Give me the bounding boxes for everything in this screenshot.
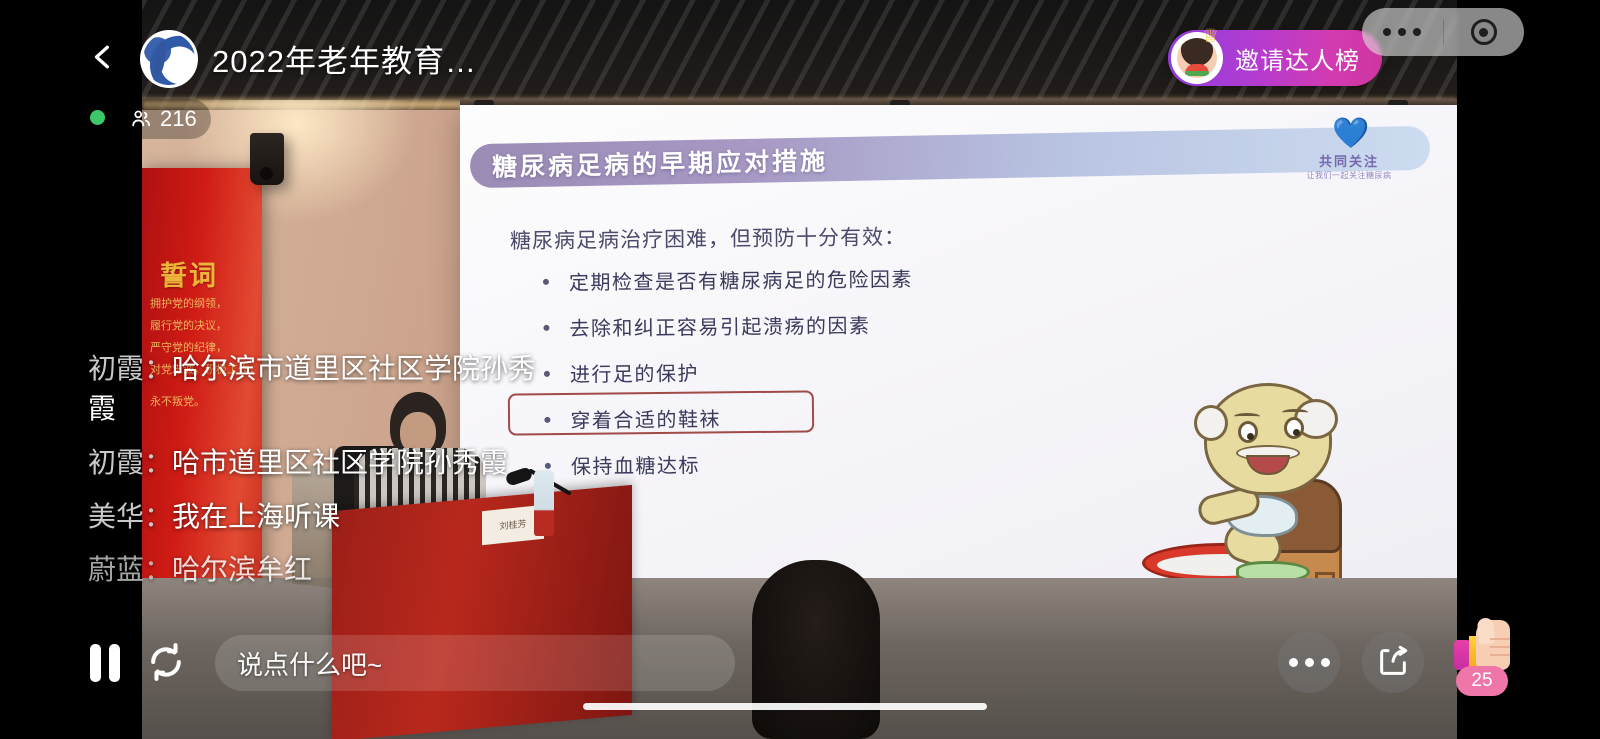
eye-right	[1284, 417, 1304, 439]
chat-message: 蔚蓝：哈尔滨牟红	[88, 550, 558, 590]
brow-right	[1282, 409, 1308, 416]
live-green-dot	[90, 110, 105, 125]
people-icon	[130, 108, 152, 130]
slide-title: 糖尿病足病的早期应对措施	[492, 141, 829, 183]
eye-left	[1238, 421, 1258, 443]
slide-logo-line2: 让我们一起关注糖尿病	[1290, 170, 1408, 181]
chat-sender-name: 美华：	[88, 501, 172, 532]
chat-sender-name: 初霞：	[88, 447, 172, 478]
room-avatar[interactable]	[140, 30, 198, 88]
invite-leaderboard-button[interactable]: ♕ 邀请达人榜	[1168, 30, 1382, 86]
chat-message: 初霞：哈尔滨市道里区社区学院孙秀霞	[88, 349, 558, 429]
wall-speaker	[250, 133, 284, 185]
chat-message: 美华：我在上海听课	[88, 497, 558, 537]
crowned-kid-avatar: ♕	[1171, 32, 1223, 84]
pause-button[interactable]	[82, 640, 128, 686]
chat-sender-name: 初霞：	[88, 353, 172, 384]
share-arrow-icon	[1376, 645, 1410, 679]
slide-bullet: 保持血糖达标	[537, 447, 915, 480]
slide-logo-line1: 共同关注	[1290, 151, 1408, 170]
slide-bullet: 进行足的保护	[536, 355, 914, 388]
chat-message-text: 我在上海听课	[172, 501, 340, 532]
chat-message-text: 哈市道里区社区学院孙秀霞	[172, 447, 508, 478]
more-dots-icon	[1289, 658, 1330, 667]
like-count-badge: 25	[1456, 666, 1508, 696]
refresh-button[interactable]	[144, 640, 188, 684]
banner-line-1: 履行党的决议，	[150, 320, 262, 333]
audience-head-silhouette	[752, 560, 880, 739]
more-dots-icon	[1383, 28, 1421, 36]
comment-input-placeholder: 说点什么吧~	[237, 645, 382, 682]
thumbs-up-icon	[1454, 618, 1512, 672]
more-options-button[interactable]	[1278, 631, 1340, 693]
elderly-man-washing-feet-illustration	[1142, 383, 1392, 583]
back-button[interactable]	[82, 36, 124, 78]
viewer-count-chip: 216	[122, 99, 211, 139]
miniprogram-capsule	[1362, 8, 1524, 56]
page-title: 2022年老年教育…	[212, 36, 477, 81]
capsule-menu-button[interactable]	[1362, 8, 1443, 56]
crown-icon: ♕	[1202, 27, 1219, 46]
chat-sender-name: 蔚蓝：	[88, 554, 172, 585]
banner-title: 誓词	[160, 254, 218, 293]
capsule-close-button[interactable]	[1444, 8, 1525, 56]
comment-input[interactable]: 说点什么吧~	[215, 635, 735, 691]
home-indicator	[583, 703, 987, 710]
slide-logo: 💙 共同关注 让我们一起关注糖尿病	[1290, 119, 1408, 181]
share-button[interactable]	[1362, 631, 1424, 693]
target-circle-icon	[1471, 19, 1497, 45]
slide-lead-text: 糖尿病足病治疗困难，但预防十分有效：	[510, 221, 906, 255]
chevron-left-icon	[90, 44, 116, 70]
chat-message-list[interactable]: 初霞：哈尔滨市道里区社区学院孙秀霞 初霞：哈市道里区社区学院孙秀霞 美华：我在上…	[88, 349, 558, 604]
slide-bullet-list: 定期检查是否有糖尿病足的危险因素 去除和纠正容易引起溃疡的因素 进行足的保护 穿…	[535, 263, 915, 497]
banner-line-0: 拥护党的纲领，	[150, 298, 262, 311]
slide-bullet: 定期检查是否有糖尿病足的危险因素	[535, 263, 913, 296]
pause-icon	[90, 644, 101, 682]
refresh-rotate-icon	[144, 640, 188, 684]
university-logo-avatar	[143, 33, 195, 85]
live-stream-screen: 誓词 拥护党的纲领， 履行党的决议， 严守党的纪律， 对党忠诚，积极工作， 永不…	[0, 0, 1600, 739]
brow-left	[1234, 413, 1260, 420]
like-button[interactable]: 25	[1452, 618, 1514, 696]
slide-title-banner: 糖尿病足病的早期应对措施	[470, 126, 1431, 188]
slide-bullet: 去除和纠正容易引起溃疡的因素	[535, 309, 913, 342]
hair-left-shape	[1194, 405, 1228, 441]
chat-message-text: 哈尔滨牟红	[172, 554, 312, 585]
invite-leaderboard-label: 邀请达人榜	[1235, 41, 1360, 76]
viewer-count: 216	[160, 106, 197, 132]
chat-message: 初霞：哈市道里区社区学院孙秀霞	[88, 443, 558, 483]
hands-holding-heart-icon: 💙	[1290, 119, 1408, 149]
